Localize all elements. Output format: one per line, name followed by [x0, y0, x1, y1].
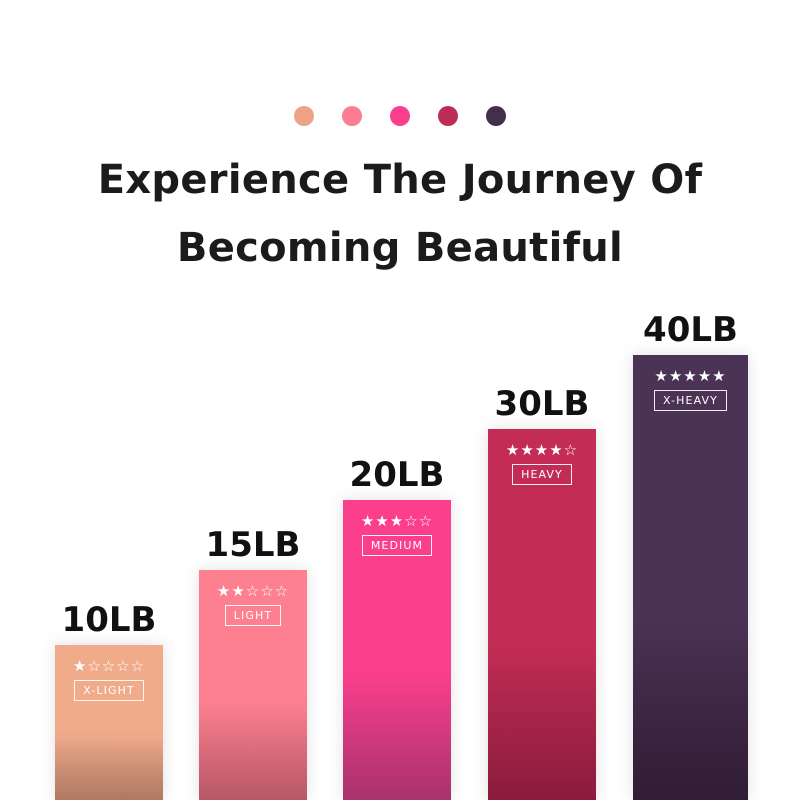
- bar-badge: ★☆☆☆☆X-LIGHT: [55, 659, 163, 701]
- bar-badge: ★★★★★X-HEAVY: [633, 369, 748, 411]
- bar-x-heavy[interactable]: ★★★★★X-HEAVY: [633, 355, 748, 800]
- bar-x-light[interactable]: ★☆☆☆☆X-LIGHT: [55, 645, 163, 800]
- resistance-level-label: MEDIUM: [362, 535, 432, 556]
- bar-group-x-heavy[interactable]: ★★★★★X-HEAVY40LB: [633, 355, 748, 800]
- bar-weight-label: 40LB: [643, 311, 738, 349]
- bar-weight-label: 30LB: [495, 385, 590, 423]
- resistance-level-label: LIGHT: [225, 605, 281, 626]
- star-rating-icon: ★☆☆☆☆: [73, 659, 145, 674]
- bar-badge: ★★★★☆HEAVY: [488, 443, 596, 485]
- star-rating-icon: ★★★★☆: [506, 443, 578, 458]
- bar-gradient-overlay: [633, 355, 748, 800]
- resistance-level-label: HEAVY: [512, 464, 572, 485]
- star-rating-icon: ★★★☆☆: [361, 514, 433, 529]
- bar-group-x-light[interactable]: ★☆☆☆☆X-LIGHT10LB: [55, 645, 163, 800]
- bar-badge: ★★☆☆☆LIGHT: [199, 584, 307, 626]
- star-rating-icon: ★★☆☆☆: [217, 584, 289, 599]
- bar-group-light[interactable]: ★★☆☆☆LIGHT15LB: [199, 570, 307, 800]
- bar-light[interactable]: ★★☆☆☆LIGHT: [199, 570, 307, 800]
- bar-group-heavy[interactable]: ★★★★☆HEAVY30LB: [488, 429, 596, 800]
- bar-weight-label: 20LB: [350, 456, 445, 494]
- bar-badge: ★★★☆☆MEDIUM: [343, 514, 451, 556]
- resistance-band-bar-chart: ★☆☆☆☆X-LIGHT10LB★★☆☆☆LIGHT15LB★★★☆☆MEDIU…: [0, 0, 800, 800]
- bar-weight-label: 15LB: [206, 526, 301, 564]
- star-rating-icon: ★★★★★: [654, 369, 726, 384]
- resistance-level-label: X-LIGHT: [74, 680, 144, 701]
- bar-group-medium[interactable]: ★★★☆☆MEDIUM20LB: [343, 500, 451, 800]
- bar-weight-label: 10LB: [62, 601, 157, 639]
- product-infographic: Experience The Journey Of Becoming Beaut…: [0, 0, 800, 800]
- bar-medium[interactable]: ★★★☆☆MEDIUM: [343, 500, 451, 800]
- resistance-level-label: X-HEAVY: [654, 390, 727, 411]
- bar-heavy[interactable]: ★★★★☆HEAVY: [488, 429, 596, 800]
